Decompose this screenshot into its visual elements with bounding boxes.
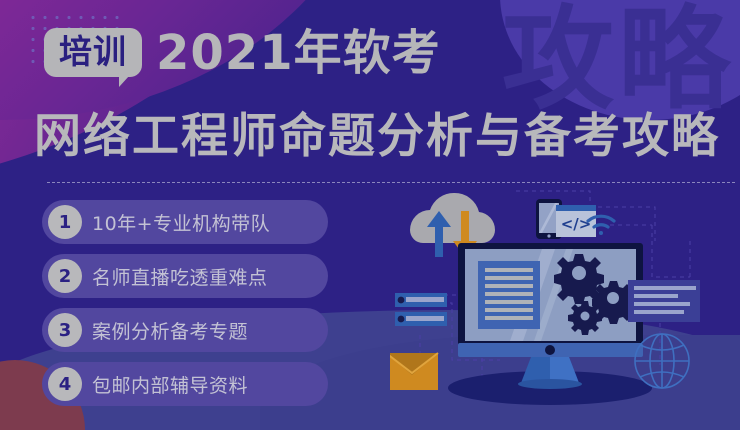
cloud-icon bbox=[410, 193, 495, 243]
list-item: 1 10年+专业机构带队 bbox=[42, 200, 328, 244]
promo-banner: 攻略 培训 2021年软考 网络工程师命题分析与备考攻略 1 10年+专业机构带… bbox=[0, 0, 740, 430]
header-row: 培训 2021年软考 bbox=[44, 28, 441, 77]
text-lines-panel-icon bbox=[628, 280, 700, 322]
list-item-label: 包邮内部辅导资料 bbox=[92, 371, 248, 398]
list-item-number: 1 bbox=[48, 205, 82, 239]
page-title: 2021年软考 bbox=[156, 29, 441, 77]
list-item: 2 名师直播吃透重难点 bbox=[42, 254, 328, 298]
technology-illustration: </> bbox=[390, 185, 740, 430]
page-subtitle: 网络工程师命题分析与备考攻略 bbox=[34, 110, 720, 164]
list-item: 4 包邮内部辅导资料 bbox=[42, 362, 328, 406]
list-item-label: 10年+专业机构带队 bbox=[92, 209, 270, 236]
svg-text:</>: </> bbox=[561, 215, 592, 233]
document-icon bbox=[478, 261, 540, 329]
training-badge: 培训 bbox=[44, 28, 142, 77]
feature-list: 1 10年+专业机构带队 2 名师直播吃透重难点 3 案例分析备考专题 4 包邮… bbox=[42, 200, 328, 416]
dashed-divider bbox=[47, 182, 735, 183]
list-item-number: 3 bbox=[48, 313, 82, 347]
list-item: 3 案例分析备考专题 bbox=[42, 308, 328, 352]
list-item-number: 2 bbox=[48, 259, 82, 293]
list-item-label: 名师直播吃透重难点 bbox=[92, 263, 268, 290]
list-item-label: 案例分析备考专题 bbox=[92, 317, 248, 344]
login-field-icon bbox=[395, 293, 447, 326]
globe-icon bbox=[635, 334, 689, 388]
list-item-number: 4 bbox=[48, 367, 82, 401]
watermark-text: 攻略 bbox=[502, 4, 734, 116]
envelope-icon bbox=[390, 353, 438, 390]
